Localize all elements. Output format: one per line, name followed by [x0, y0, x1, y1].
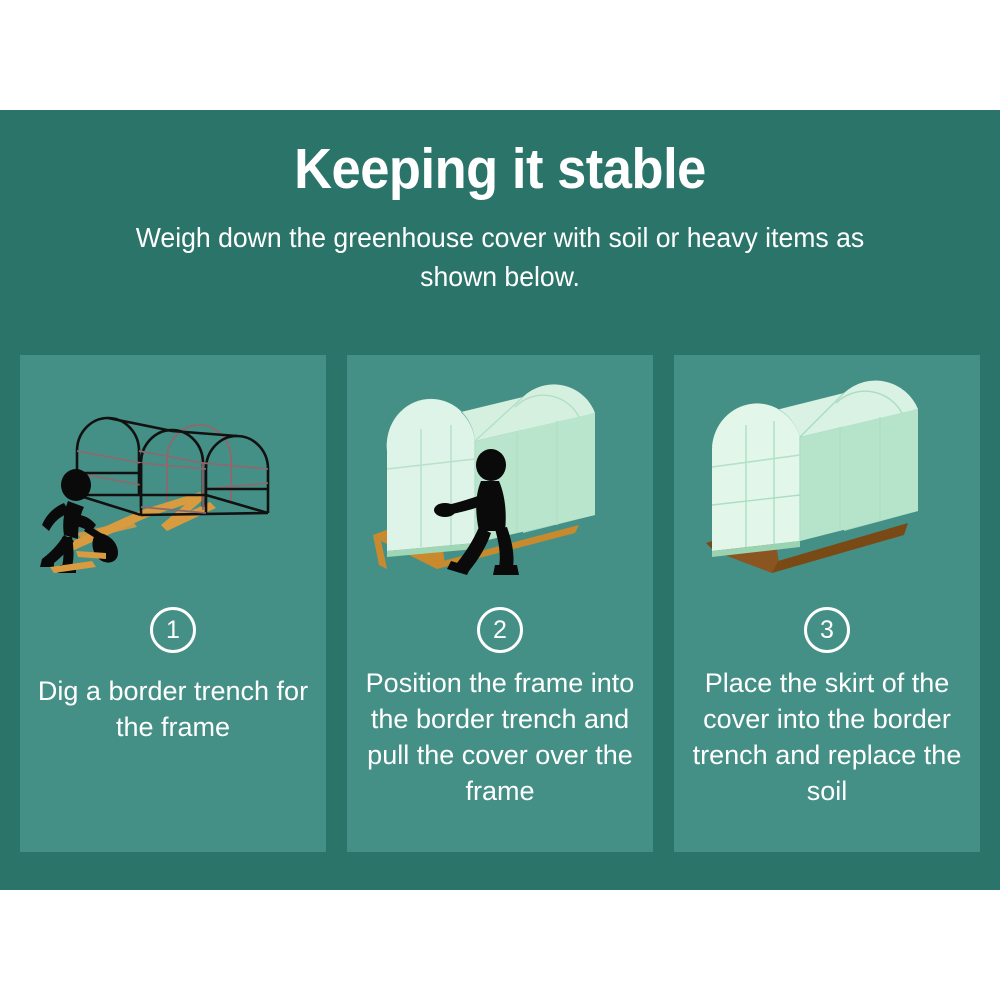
step-card-1: 1 Dig a border trench for the frame	[20, 355, 326, 852]
step-caption-3: Place the skirt of the cover into the bo…	[686, 665, 968, 809]
illustration-dig-trench	[20, 355, 326, 605]
step-number-1: 1	[150, 607, 196, 653]
step-caption-2: Position the frame into the border trenc…	[359, 665, 641, 809]
step-card-3: 3 Place the skirt of the cover into the …	[674, 355, 980, 852]
step-card-2: 2 Position the frame into the border tre…	[347, 355, 653, 852]
page-title: Keeping it stable	[40, 136, 960, 202]
step-number-badge-2: 2	[347, 607, 653, 653]
illustration-position-frame	[347, 355, 653, 605]
step-number-2: 2	[477, 607, 523, 653]
poster-header: Keeping it stable Weigh down the greenho…	[0, 110, 1000, 296]
step-number-badge-1: 1	[20, 607, 326, 653]
poster-canvas: Keeping it stable Weigh down the greenho…	[0, 110, 1000, 890]
step-number-badge-3: 3	[674, 607, 980, 653]
person-digging-icon	[40, 469, 118, 573]
page-subtitle: Weigh down the greenhouse cover with soi…	[120, 218, 880, 296]
step-caption-1: Dig a border trench for the frame	[32, 673, 314, 745]
steps-container: 1 Dig a border trench for the frame	[20, 355, 980, 852]
step-number-3: 3	[804, 607, 850, 653]
greenhouse-wireframe-icon	[77, 418, 268, 515]
illustration-bury-skirt	[674, 355, 980, 605]
